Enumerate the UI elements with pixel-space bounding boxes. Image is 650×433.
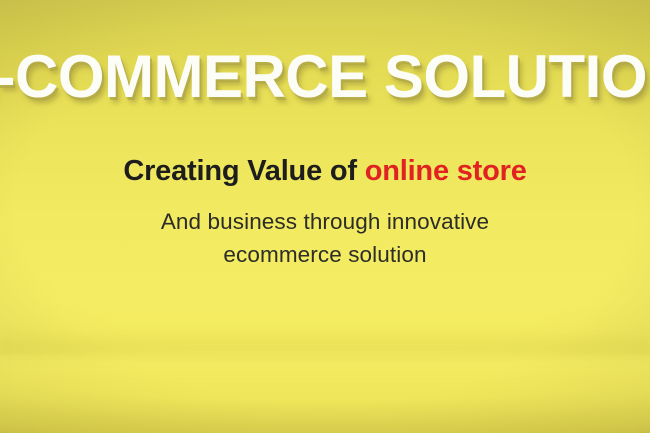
subheadline-lead: Creating Value of [123, 155, 364, 187]
body-copy-line-2: ecommerce solution [0, 238, 650, 271]
banner-subheadline: Creating Value of online store [0, 156, 650, 188]
banner-content: E-COMMERCE SOLUTIONS Creating Value of o… [0, 0, 650, 433]
banner-headline: E-COMMERCE SOLUTIONS [0, 47, 650, 107]
subheadline-accent: online store [365, 155, 527, 187]
ecommerce-hero-banner: E-COMMERCE SOLUTIONS Creating Value of o… [0, 0, 650, 433]
banner-body-copy: And business through innovative ecommerc… [0, 205, 650, 271]
body-copy-line-1: And business through innovative [0, 205, 650, 238]
